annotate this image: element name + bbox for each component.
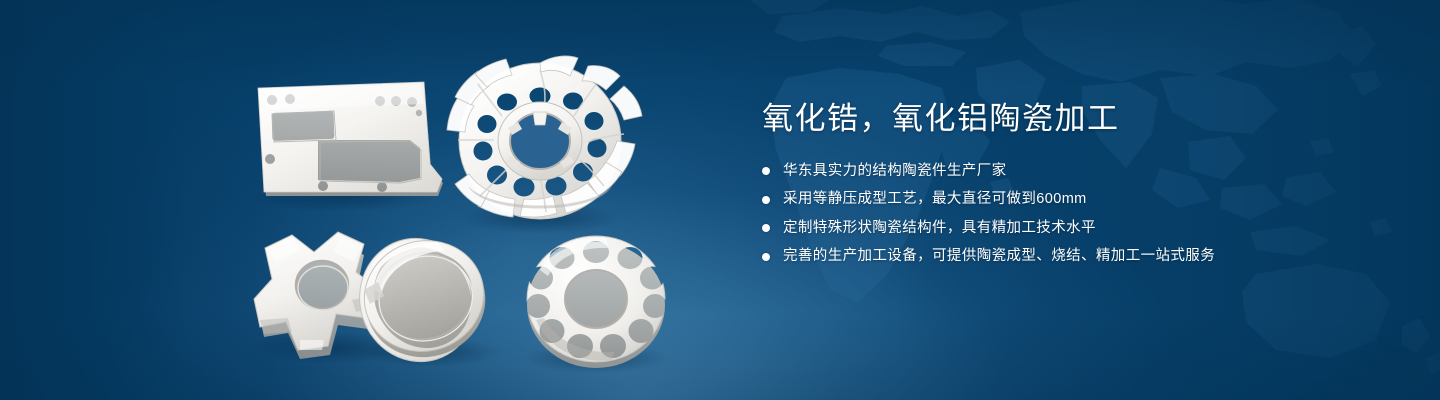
feature-text: 完善的生产加工设备，可提供陶瓷成型、烧结、精加工一站式服务 (783, 248, 1215, 265)
bullet-dot-icon (762, 167, 770, 175)
ceramic-perforated-disc (527, 236, 665, 368)
ceramic-mounting-plate (258, 82, 443, 196)
feature-item: 采用等静压成型工艺，最大直径可做到600mm (762, 191, 1402, 208)
bullet-dot-icon (762, 224, 770, 232)
banner-copy: 氧化锆，氧化铝陶瓷加工 华东具实力的结构陶瓷件生产厂家 采用等静压成型工艺，最大… (762, 100, 1402, 265)
impeller-hub (498, 102, 582, 180)
feature-text: 采用等静压成型工艺，最大直径可做到600mm (783, 191, 1087, 208)
feature-item: 华东具实力的结构陶瓷件生产厂家 (762, 163, 1402, 180)
ceramic-products-photo (0, 0, 720, 400)
bullet-dot-icon (762, 196, 770, 204)
hero-banner: 氧化锆，氧化铝陶瓷加工 华东具实力的结构陶瓷件生产厂家 采用等静压成型工艺，最大… (0, 0, 1440, 400)
feature-item: 完善的生产加工设备，可提供陶瓷成型、烧结、精加工一站式服务 (762, 248, 1402, 265)
banner-headline: 氧化锆，氧化铝陶瓷加工 (762, 100, 1402, 139)
feature-text: 定制特殊形状陶瓷结构件，具有精加工技术水平 (783, 220, 1096, 237)
ceramic-impeller (447, 56, 642, 219)
feature-list: 华东具实力的结构陶瓷件生产厂家 采用等静压成型工艺，最大直径可做到600mm 定… (762, 163, 1402, 266)
feature-item: 定制特殊形状陶瓷结构件，具有精加工技术水平 (762, 220, 1402, 237)
feature-text: 华东具实力的结构陶瓷件生产厂家 (783, 163, 1007, 180)
bullet-dot-icon (762, 253, 770, 261)
